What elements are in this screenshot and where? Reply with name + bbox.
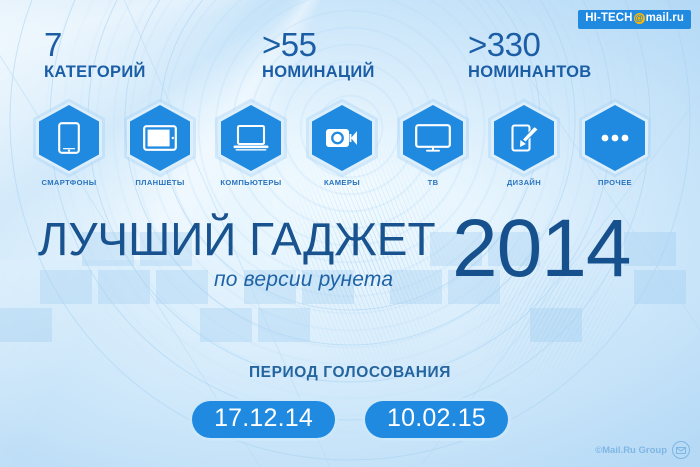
voting-end-date[interactable]: 10.02.15	[365, 401, 508, 438]
stat-number: 7	[44, 28, 146, 61]
ellipsis-icon	[600, 133, 630, 143]
hex-frame	[493, 104, 555, 172]
laptop-icon	[233, 124, 269, 152]
category-item-tablets[interactable]: ПЛАНШЕТЫ	[117, 104, 203, 187]
logo-prefix: HI-TECH	[585, 13, 632, 25]
category-label: СМАРТФОНЫ	[26, 178, 112, 187]
design-stylus-icon	[508, 122, 540, 154]
category-label: ПРОЧЕЕ	[572, 178, 658, 187]
stat-categories: 7 КАТЕГОРИЙ	[44, 28, 146, 81]
page-title: ЛУЧШИЙ ГАДЖЕТ	[38, 216, 436, 262]
headline-year: 2014	[452, 208, 630, 290]
start-date-pill-frame: 17.12.14	[189, 398, 338, 441]
voting-start-date[interactable]: 17.12.14	[192, 401, 335, 438]
hex-frame	[220, 104, 282, 172]
end-date-pill-frame: 10.02.15	[362, 398, 511, 441]
hex-frame	[129, 104, 191, 172]
camera-icon	[325, 125, 359, 151]
tv-icon	[415, 124, 451, 152]
tablet-icon	[143, 125, 177, 151]
voting-dates: 17.12.14 10.02.15	[0, 398, 700, 441]
stat-label: НОМИНАНТОВ	[468, 64, 592, 81]
category-label: ДИЗАЙН	[481, 178, 567, 187]
headline-subtitle: по версии рунета	[214, 268, 393, 292]
category-label: ТВ	[390, 178, 476, 187]
headline-block: ЛУЧШИЙ ГАДЖЕТ по версии рунета 2014	[0, 216, 700, 306]
hex-frame	[584, 104, 646, 172]
hex-frame	[402, 104, 464, 172]
hex-frame	[38, 104, 100, 172]
poster-infographic: HI-TECH@mail.ru 7 КАТЕГОРИЙ >55 НОМИНАЦИ…	[0, 0, 700, 467]
stat-number: >330	[468, 28, 592, 61]
copyright-text: ©Mail.Ru Group	[595, 445, 667, 456]
envelope-icon[interactable]	[672, 441, 690, 459]
smartphone-icon	[58, 122, 80, 154]
footer-copyright: ©Mail.Ru Group	[595, 441, 690, 459]
stat-nominations: >55 НОМИНАЦИЙ	[262, 28, 375, 81]
category-item-computers[interactable]: КОМПЬЮТЕРЫ	[208, 104, 294, 187]
category-item-tv[interactable]: ТВ	[390, 104, 476, 187]
stat-label: КАТЕГОРИЙ	[44, 64, 146, 81]
category-label: КАМЕРЫ	[299, 178, 385, 187]
hex-frame	[311, 104, 373, 172]
category-item-other[interactable]: ПРОЧЕЕ	[572, 104, 658, 187]
stat-nominees: >330 НОМИНАНТОВ	[468, 28, 592, 81]
hitech-mailru-logo[interactable]: HI-TECH@mail.ru	[578, 10, 691, 29]
voting-period-title: ПЕРИОД ГОЛОСОВАНИЯ	[0, 364, 700, 382]
category-item-cameras[interactable]: КАМЕРЫ	[299, 104, 385, 187]
logo-at-icon: @	[634, 13, 645, 24]
category-item-smartphones[interactable]: СМАРТФОНЫ	[26, 104, 112, 187]
stat-label: НОМИНАЦИЙ	[262, 64, 375, 81]
logo-suffix: mail.ru	[646, 13, 684, 25]
category-label: ПЛАНШЕТЫ	[117, 178, 203, 187]
category-row: СМАРТФОНЫ ПЛАНШЕТЫ	[0, 104, 700, 196]
category-label: КОМПЬЮТЕРЫ	[208, 178, 294, 187]
category-item-design[interactable]: ДИЗАЙН	[481, 104, 567, 187]
stat-number: >55	[262, 28, 375, 61]
stats-row: 7 КАТЕГОРИЙ >55 НОМИНАЦИЙ >330 НОМИНАНТО…	[0, 28, 700, 88]
